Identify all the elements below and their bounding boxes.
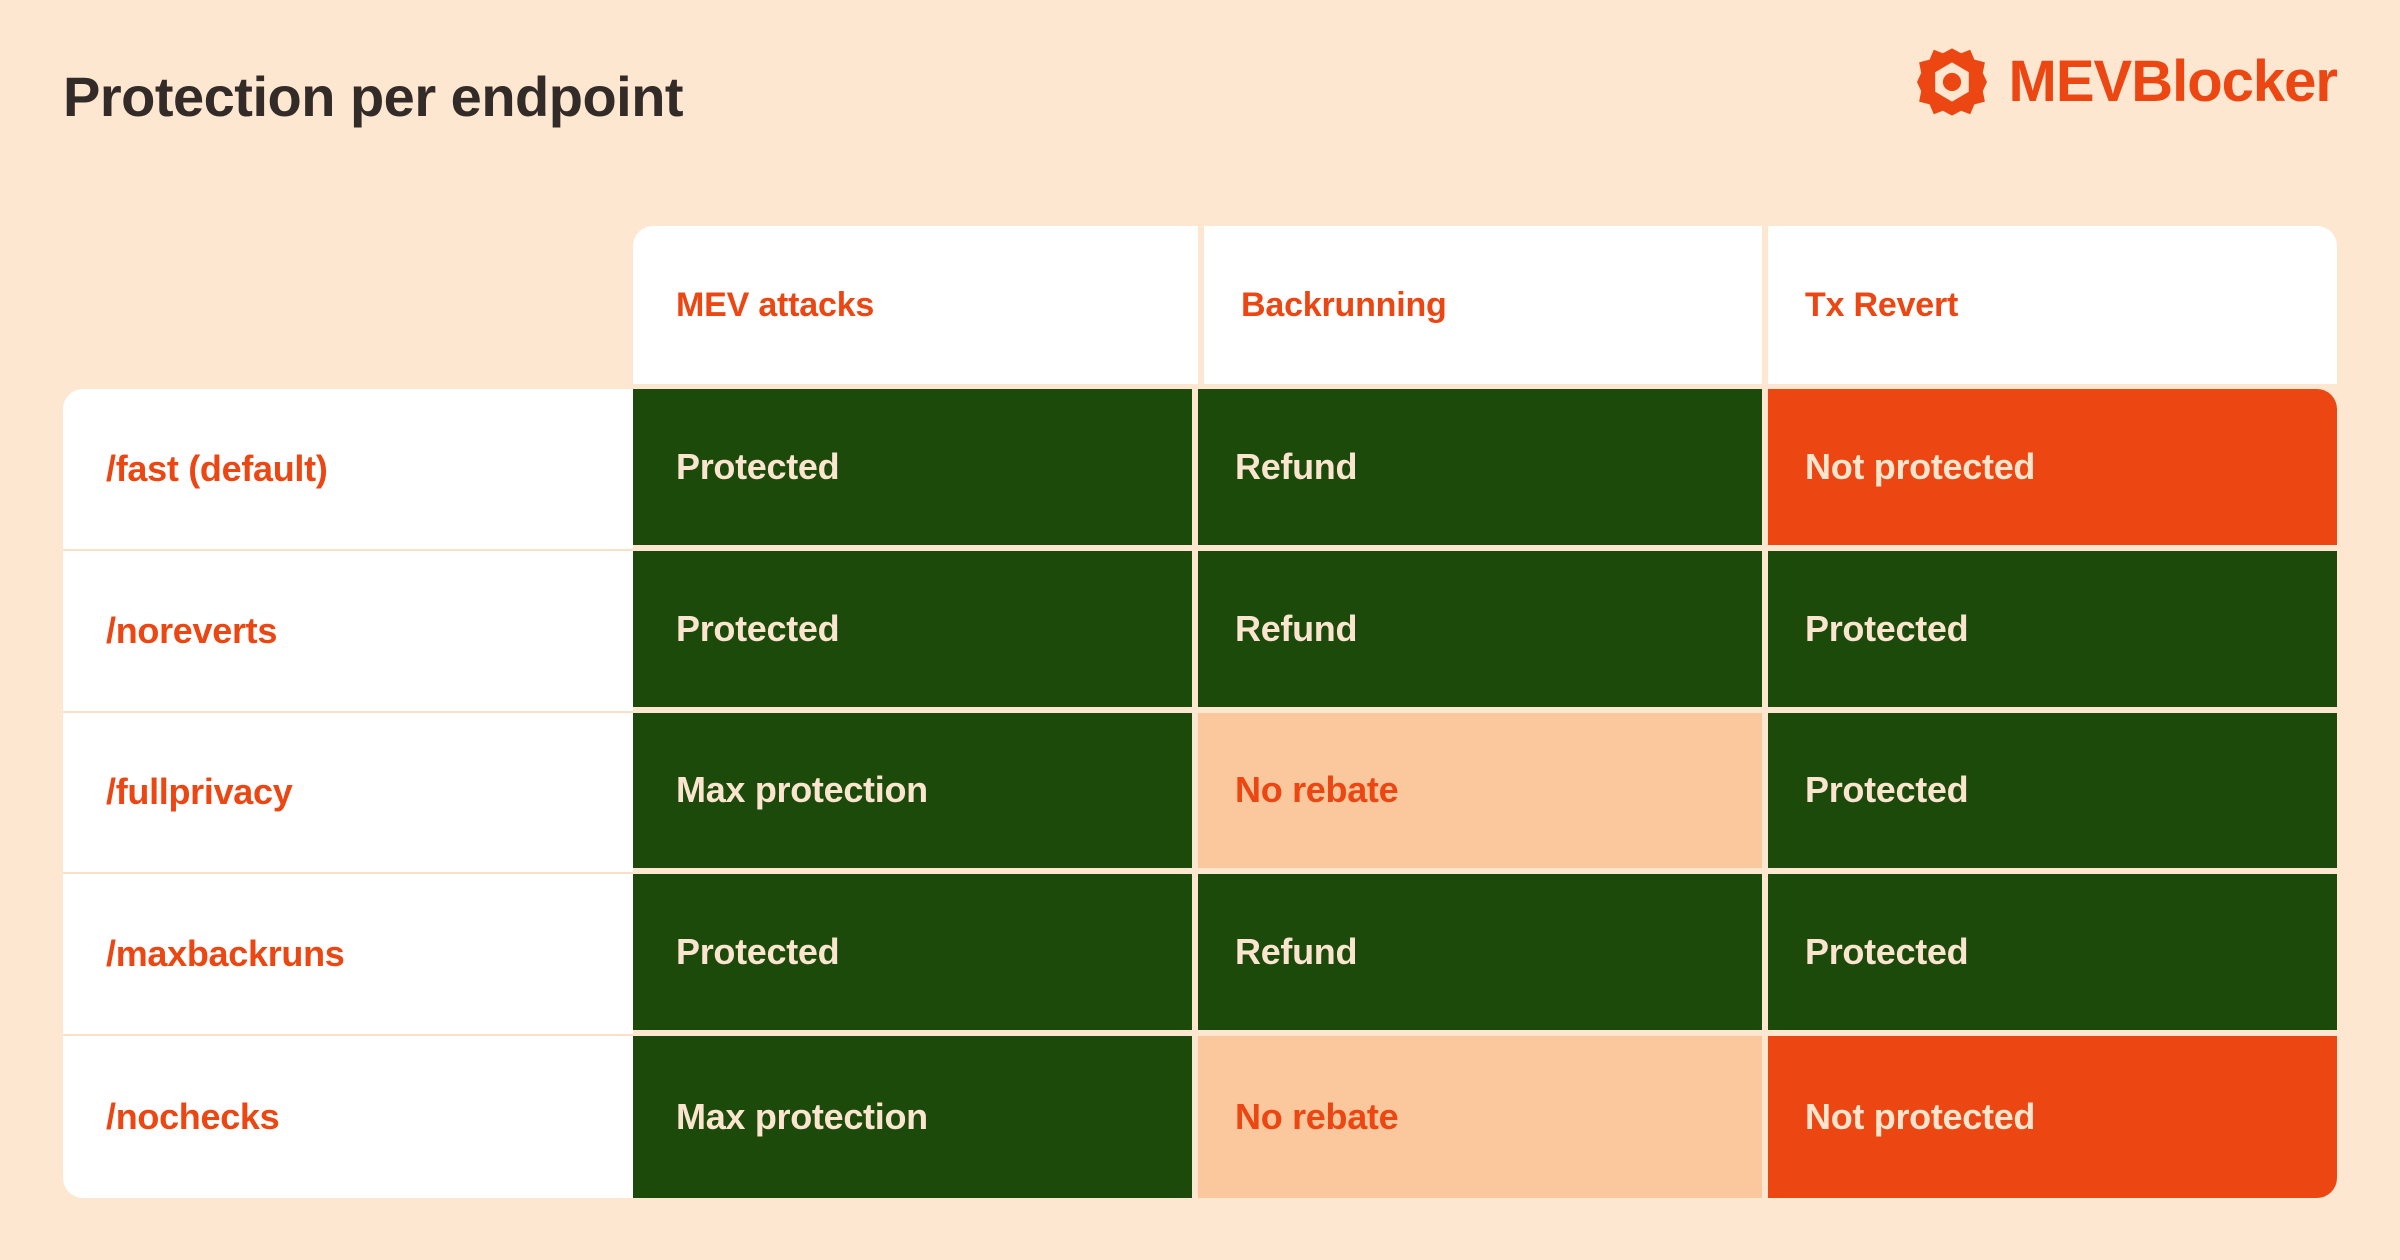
cell-nochecks-backrunning: No rebate	[1198, 1036, 1768, 1198]
cell-fast-mev: Protected	[633, 389, 1198, 551]
row-label-noreverts: /noreverts	[63, 551, 633, 713]
row-label-fullprivacy: /fullprivacy	[63, 713, 633, 875]
brand-logo: MEVBlocker	[1917, 42, 2337, 122]
page-title: Protection per endpoint	[63, 64, 683, 129]
row-label-nochecks: /nochecks	[63, 1036, 633, 1198]
cell-noreverts-mev: Protected	[633, 551, 1198, 713]
row-label-maxbackruns: /maxbackruns	[63, 874, 633, 1036]
cell-fast-txrevert: Not protected	[1768, 389, 2337, 551]
status-grid: Protected Refund Not protected Protected…	[633, 389, 2337, 1198]
column-header-tx-revert: Tx Revert	[1762, 226, 2331, 384]
column-header-mev-attacks: MEV attacks	[633, 226, 1198, 384]
cell-noreverts-txrevert: Protected	[1768, 551, 2337, 713]
cell-fullprivacy-backrunning: No rebate	[1198, 713, 1768, 875]
cell-nochecks-mev: Max protection	[633, 1036, 1198, 1198]
cell-nochecks-txrevert: Not protected	[1768, 1036, 2337, 1198]
cell-fullprivacy-mev: Max protection	[633, 713, 1198, 875]
table-header-row: MEV attacks Backrunning Tx Revert	[633, 226, 2337, 384]
page-header: Protection per endpoint MEVBlocker	[0, 0, 2400, 160]
protection-matrix: MEV attacks Backrunning Tx Revert /fast …	[63, 226, 2337, 1198]
cell-noreverts-backrunning: Refund	[1198, 551, 1768, 713]
cell-maxbackruns-mev: Protected	[633, 874, 1198, 1036]
cell-fast-backrunning: Refund	[1198, 389, 1768, 551]
cell-fullprivacy-txrevert: Protected	[1768, 713, 2337, 875]
gear-hexagon-icon	[1917, 47, 1987, 117]
brand-name: MEVBlocker	[2009, 53, 2337, 111]
cell-maxbackruns-txrevert: Protected	[1768, 874, 2337, 1036]
cell-maxbackruns-backrunning: Refund	[1198, 874, 1768, 1036]
endpoint-label-column: /fast (default) /noreverts /fullprivacy …	[63, 389, 633, 1198]
column-header-backrunning: Backrunning	[1198, 226, 1762, 384]
row-label-fast: /fast (default)	[63, 389, 633, 551]
